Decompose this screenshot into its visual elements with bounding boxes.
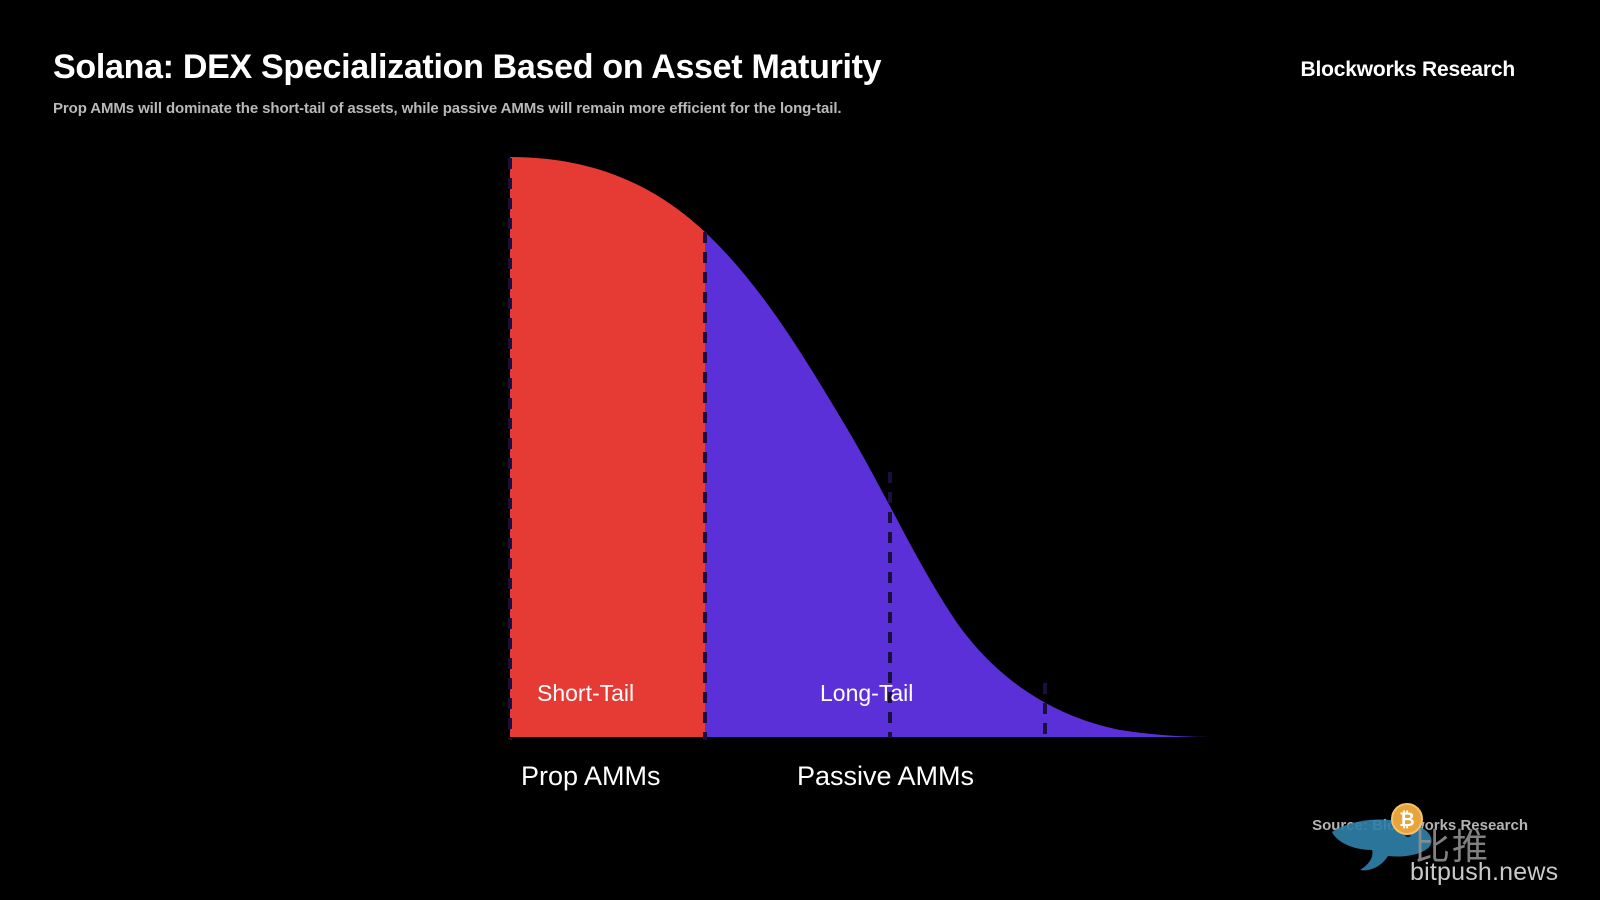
source-label: Source: Blockworks Research — [1312, 817, 1528, 834]
axis-label-passive-amms: Passive AMMs — [797, 761, 974, 792]
area-segment-long-tail — [705, 140, 1230, 740]
chart-canvas: Solana: DEX Specialization Based on Asse… — [0, 0, 1600, 900]
axis-label-prop-amms: Prop AMMs — [521, 761, 661, 792]
area-segment-short-tail — [510, 140, 705, 740]
